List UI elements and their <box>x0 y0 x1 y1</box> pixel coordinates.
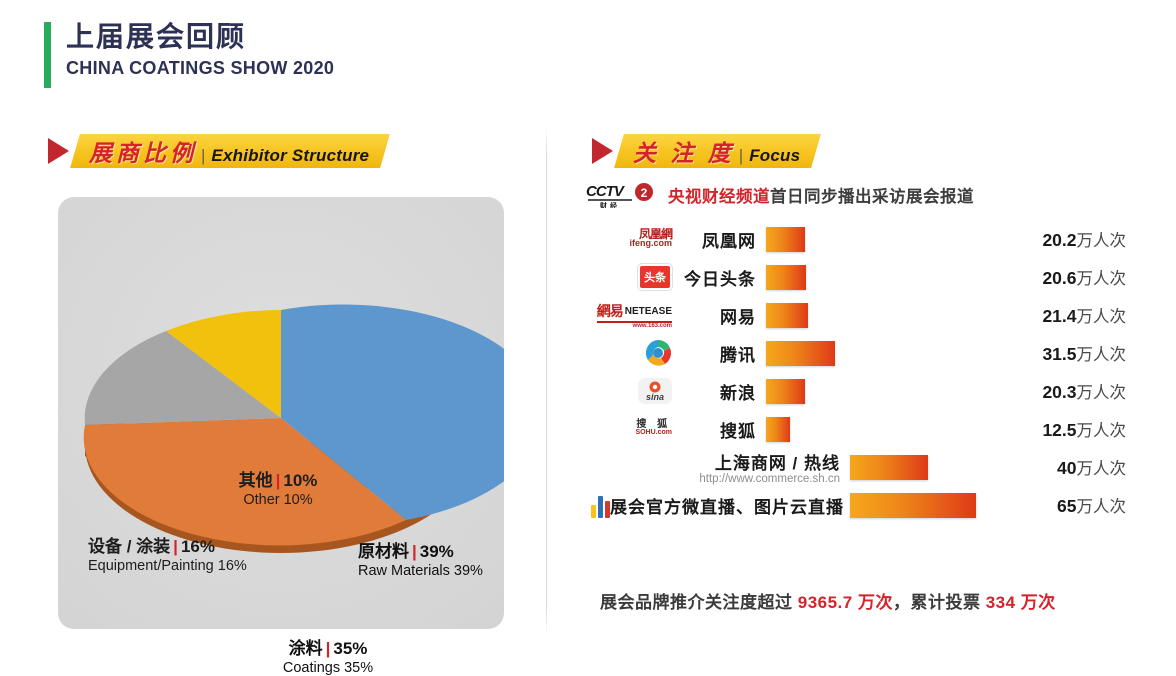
media-value-unit: 万人次 <box>1077 384 1127 402</box>
media-value-unit: 万人次 <box>1077 460 1127 478</box>
svg-text:CCTV: CCTV <box>586 183 626 200</box>
header-accent-bar <box>44 22 51 88</box>
media-value: 31.5万人次 <box>918 341 1146 365</box>
media-name: 凤凰网 <box>672 227 766 252</box>
media-value-unit: 万人次 <box>1077 422 1127 440</box>
media-value-number: 40 <box>1057 458 1076 478</box>
page-title-en: CHINA COATINGS SHOW 2020 <box>66 56 334 80</box>
media-value-unit: 万人次 <box>1077 232 1127 250</box>
pie-label-equipment-cn: 设备 / 涂装|16% <box>88 537 338 557</box>
pie-label-other-cn: 其他|10% <box>183 471 373 491</box>
media-value: 12.5万人次 <box>918 417 1146 441</box>
media-name: 新浪 <box>672 379 766 404</box>
pie-label-equipment-en: Equipment/Painting 16% <box>88 558 338 575</box>
play-triangle-icon <box>592 138 613 164</box>
media-name: 腾讯 <box>672 341 766 366</box>
media-name: 展会官方微直播、图片云直播 <box>610 493 850 518</box>
netease-logo-en: NETEASE <box>625 306 672 317</box>
pie-label-raw-materials-cn: 原材料|39% <box>358 542 538 562</box>
media-value-number: 20.3 <box>1042 382 1076 402</box>
netease-logo-icon: 網易 NETEASE www.163.com <box>586 300 672 330</box>
svg-text:2: 2 <box>641 186 648 200</box>
sohu-logo-cn: 搜 狐 <box>635 421 672 429</box>
section-title-separator: | <box>201 146 205 166</box>
pie-label-other-name: 其他 <box>239 471 273 490</box>
media-value: 20.3万人次 <box>918 379 1146 403</box>
media-row: 網易 NETEASE www.163.com 网易 21.4万人次 <box>586 296 1146 334</box>
summary-part-2: ，累计投票 <box>893 593 986 612</box>
media-value: 21.4万人次 <box>918 303 1146 327</box>
toutiao-logo-icon: 头条 <box>586 262 672 292</box>
media-value-number: 31.5 <box>1042 344 1076 364</box>
pie-label-equipment-name: 设备 / 涂装 <box>88 537 170 556</box>
section-title-cn: 关 注 度 <box>633 134 735 168</box>
pie-label-raw-materials: 原材料|39% Raw Materials 39% <box>358 542 538 579</box>
media-bar-track <box>766 303 918 328</box>
exhibitor-structure-panel: 其他|10% Other 10% 设备 / 涂装|16% Equipment/P… <box>58 197 504 629</box>
pie-label-separator: | <box>412 542 417 561</box>
media-row: 展会官方微直播、图片云直播 65万人次 <box>586 486 1146 524</box>
media-value: 65万人次 <box>1002 493 1146 517</box>
media-bar <box>766 379 805 404</box>
media-value-number: 65 <box>1057 496 1076 516</box>
section-title-en: Focus <box>749 146 800 166</box>
media-bar <box>766 303 808 328</box>
sina-logo-icon: sina <box>586 376 672 406</box>
pie-label-other-pct: 10% <box>283 471 317 490</box>
section-title-en: Exhibitor Structure <box>211 146 369 166</box>
pie-label-coatings-name: 涂料 <box>289 639 323 658</box>
pie-label-other: 其他|10% Other 10% <box>183 471 373 508</box>
section-header-exhibitor-structure: 展商比例 | Exhibitor Structure <box>48 134 385 168</box>
media-value-unit: 万人次 <box>1077 346 1127 364</box>
media-bar-track <box>766 341 918 366</box>
toutiao-logo-text: 头条 <box>644 269 666 285</box>
netease-logo-url: www.163.com <box>597 321 672 329</box>
netease-logo-cn: 網易 <box>597 301 623 321</box>
media-value-unit: 万人次 <box>1077 308 1127 326</box>
pie-label-raw-materials-en: Raw Materials 39% <box>358 563 538 580</box>
cctv-broadcast-note: CCTV 2 财经 央视财经频道首日同步播出采访展会报道 <box>586 182 1146 208</box>
cctv-note-text: 首日同步播出采访展会报道 <box>770 183 974 207</box>
page-header: 上届展会回顾 CHINA COATINGS SHOW 2020 <box>44 18 334 80</box>
media-name: 今日头条 <box>672 265 766 290</box>
media-bar <box>850 493 976 518</box>
pie-label-equipment: 设备 / 涂装|16% Equipment/Painting 16% <box>88 537 338 574</box>
media-value-number: 20.2 <box>1042 230 1076 250</box>
play-triangle-icon <box>48 138 69 164</box>
media-bar-track <box>850 493 1002 518</box>
media-bar <box>766 265 806 290</box>
pie-label-coatings-cn: 涂料|35% <box>238 639 418 659</box>
media-name-url: http://www.commerce.sh.cn <box>610 473 840 485</box>
media-bar-track <box>850 455 1002 480</box>
banner-shape: 关 注 度 | Focus <box>614 134 821 168</box>
media-bar <box>850 455 928 480</box>
media-name: 上海商网 / 热线 http://www.commerce.sh.cn <box>610 449 850 485</box>
summary-highlight-votes: 334 万次 <box>986 593 1056 612</box>
pie-label-separator: | <box>173 537 178 556</box>
banner-shape: 展商比例 | Exhibitor Structure <box>70 134 390 168</box>
media-value-number: 12.5 <box>1042 420 1076 440</box>
media-name: 网易 <box>672 303 766 328</box>
media-name: 搜狐 <box>672 417 766 442</box>
media-row: 上海商网 / 热线 http://www.commerce.sh.cn 40万人… <box>586 448 1146 486</box>
summary-highlight-views: 9365.7 万次 <box>798 593 893 612</box>
media-row: 搜 狐 SOHU.com 搜狐 12.5万人次 <box>586 410 1146 448</box>
pie-label-separator: | <box>326 639 331 658</box>
media-row: 头条 今日头条 20.6万人次 <box>586 258 1146 296</box>
pie-label-other-en: Other 10% <box>183 492 373 509</box>
pie-label-separator: | <box>276 471 281 490</box>
pie-label-raw-materials-pct: 39% <box>420 542 454 561</box>
media-bar <box>766 341 835 366</box>
section-title-separator: | <box>739 146 743 166</box>
media-bar-track <box>766 227 918 252</box>
section-title-cn: 展商比例 <box>89 134 197 168</box>
media-value-unit: 万人次 <box>1077 270 1127 288</box>
pie-label-raw-materials-name: 原材料 <box>358 542 409 561</box>
media-value: 20.6万人次 <box>918 265 1146 289</box>
media-bar-track <box>766 265 918 290</box>
page-title-cn: 上届展会回顾 <box>66 18 334 56</box>
media-row: 腾讯 31.5万人次 <box>586 334 1146 372</box>
media-row: 凤凰網 ifeng.com 凤凰网 20.2万人次 <box>586 220 1146 258</box>
section-header-focus: 关 注 度 | Focus <box>592 134 816 168</box>
pie-label-coatings: 涂料|35% Coatings 35% <box>238 639 418 676</box>
tencent-logo-icon <box>586 338 672 368</box>
column-divider <box>546 126 547 636</box>
focus-panel: CCTV 2 财经 央视财经频道首日同步播出采访展会报道 凤凰網 ifeng.c… <box>586 182 1146 524</box>
media-bar <box>766 417 790 442</box>
media-bar <box>766 227 805 252</box>
svg-text:财经: 财经 <box>599 201 620 208</box>
media-bar-track <box>766 417 918 442</box>
ifeng-logo-en: ifeng.com <box>629 238 672 248</box>
sohu-logo-icon: 搜 狐 SOHU.com <box>586 414 672 444</box>
ifeng-logo-icon: 凤凰網 ifeng.com <box>586 224 672 254</box>
media-bar-track <box>766 379 918 404</box>
media-value: 40万人次 <box>1002 455 1146 479</box>
pie-label-coatings-pct: 35% <box>333 639 367 658</box>
media-value-number: 21.4 <box>1042 306 1076 326</box>
pie-label-equipment-pct: 16% <box>181 537 215 556</box>
summary-part-1: 展会品牌推介关注度超过 <box>600 593 798 612</box>
livestream-logo-icon <box>586 490 610 520</box>
sohu-logo-en: SOHU.com <box>635 429 672 437</box>
media-row: sina 新浪 20.3万人次 <box>586 372 1146 410</box>
media-value: 20.2万人次 <box>918 227 1146 251</box>
cctv2-logo-icon: CCTV 2 财经 <box>586 182 660 208</box>
summary-text: 展会品牌推介关注度超过 9365.7 万次，累计投票 334 万次 <box>600 588 1056 613</box>
cctv-channel-name: 央视财经频道 <box>668 183 770 207</box>
svg-text:sina: sina <box>646 392 664 402</box>
media-logo-placeholder <box>586 452 610 482</box>
pie-label-coatings-en: Coatings 35% <box>238 660 418 676</box>
media-value-number: 20.6 <box>1042 268 1076 288</box>
media-name-text: 上海商网 / 热线 <box>715 454 840 473</box>
media-value-unit: 万人次 <box>1077 498 1127 516</box>
